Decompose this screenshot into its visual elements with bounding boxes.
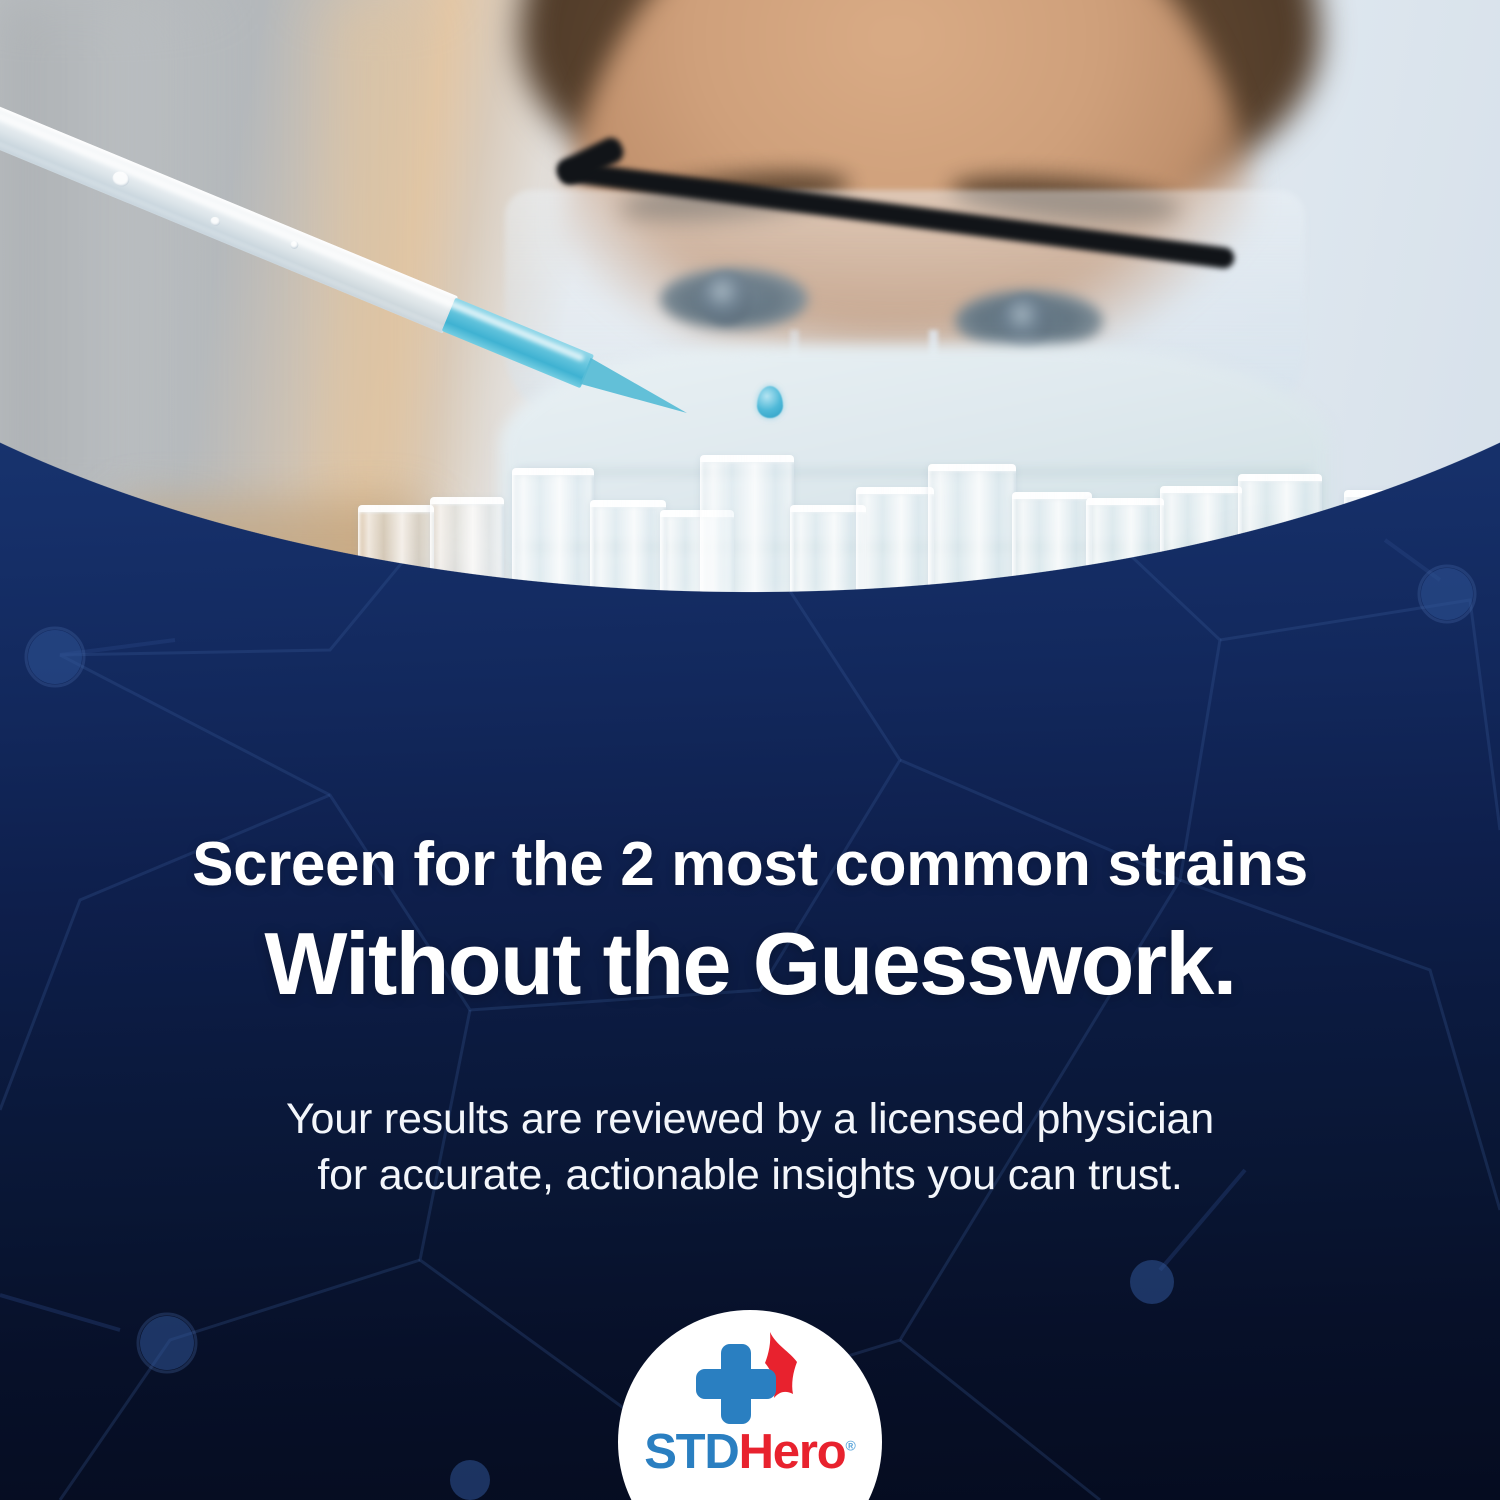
promo-poster: Screen for the 2 most common strains Wit… xyxy=(0,0,1500,1500)
subcopy-line-1: Your results are reviewed by a licensed … xyxy=(0,1092,1500,1148)
network-node xyxy=(450,1460,490,1500)
logo-wordmark: STDHero® xyxy=(618,1428,882,1477)
network-node xyxy=(140,1316,194,1370)
headline-line-2: Without the Guesswork. xyxy=(0,920,1500,1008)
blue-gradient-panel xyxy=(0,0,1500,1500)
network-node xyxy=(1421,568,1473,620)
logo-badge: STDHero® xyxy=(618,1310,882,1500)
logo-word-hero: Hero xyxy=(739,1425,846,1479)
logo-word-std: STD xyxy=(644,1425,738,1479)
network-node xyxy=(28,630,82,684)
logo-lockup: STDHero® xyxy=(618,1332,882,1477)
trademark-symbol: ® xyxy=(845,1438,855,1454)
std-hero-mark xyxy=(685,1332,815,1424)
headline-line-1: Screen for the 2 most common strains xyxy=(0,834,1500,896)
network-node xyxy=(1130,1260,1174,1304)
hexagon-network-pattern xyxy=(0,0,1500,1500)
medical-cross-horizontal xyxy=(696,1369,776,1399)
subcopy-line-2: for accurate, actionable insights you ca… xyxy=(0,1148,1500,1204)
subcopy: Your results are reviewed by a licensed … xyxy=(0,1092,1500,1204)
